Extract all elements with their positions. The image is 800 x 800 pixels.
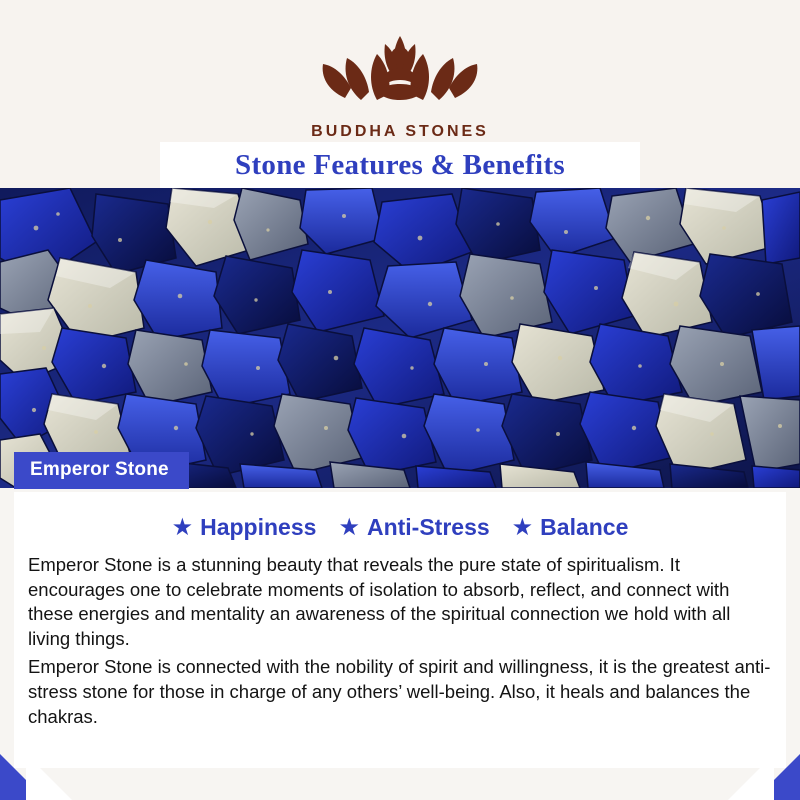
star-icon: ★ [512,516,534,540]
title-banner: Stone Features & Benefits [160,142,640,188]
benefit-label: Anti-Stress [367,514,490,541]
lotus-meditation-icon [315,20,485,117]
poster-page: BUDDHA STONES Stone Features & Benefits [0,0,800,800]
benefit-item-anti-stress: ★ Anti-Stress [338,514,489,541]
star-icon: ★ [172,516,194,540]
stone-name-badge: Emperor Stone [14,452,189,489]
benefit-label: Happiness [200,514,316,541]
description-paragraph-2: Emperor Stone is connected with the nobi… [28,655,772,729]
benefit-item-happiness: ★ Happiness [172,514,317,541]
benefit-label: Balance [540,514,628,541]
content-panel: ★ Happiness ★ Anti-Stress ★ Balance Empe… [14,492,786,768]
description-paragraph-1: Emperor Stone is a stunning beauty that … [28,553,772,651]
brand-name: BUDDHA STONES [311,123,489,141]
benefit-item-balance: ★ Balance [512,514,629,541]
benefits-row: ★ Happiness ★ Anti-Stress ★ Balance [14,514,786,541]
stone-photo-graphic [0,188,800,488]
brand-logo: BUDDHA STONES [311,20,489,141]
star-icon: ★ [338,516,360,540]
stone-photo [0,188,800,488]
page-title: Stone Features & Benefits [235,149,565,182]
